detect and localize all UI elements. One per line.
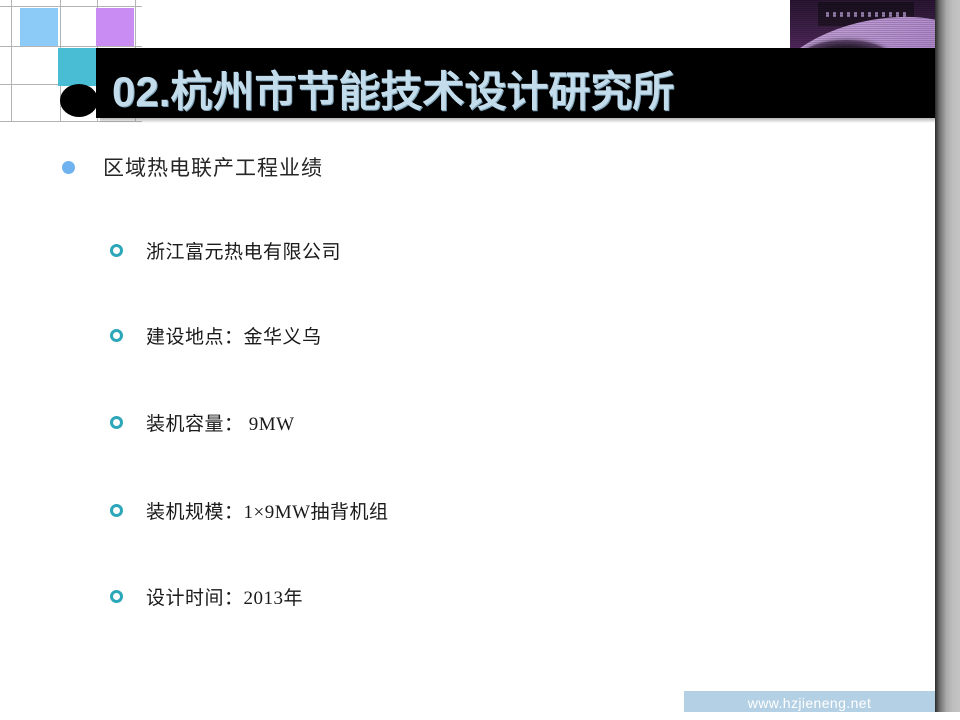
ring-bullet-icon [110,416,123,429]
ring-bullet-icon [110,590,123,603]
bullet-level2-4: 设计时间：2013年 [110,583,303,610]
footer-url: www.hzjieneng.net [684,695,935,711]
solid-circle-bullet-icon [62,161,75,174]
ring-bullet-icon [110,329,123,342]
slide-right-edge-shadow [935,0,960,720]
bullet-level2-4-label: 设计时间：2013年 [146,583,303,610]
bullet-level2-1: 建设地点：金华义乌 [110,322,322,349]
bullet-level2-3-label: 装机规模：1×9MW抽背机组 [146,497,389,524]
bullet-level2-3: 装机规模：1×9MW抽背机组 [110,497,389,524]
bullet-level2-0-label: 浙江富元热电有限公司 [146,237,341,264]
decor-square-purple [96,8,134,46]
bullet-level1-0: 区域热电联产工程业绩 [62,152,323,182]
slide-canvas: 02.杭州市节能技术设计研究所 区域热电联产工程业绩 浙江富元热电有限公司 建设… [0,0,960,720]
decor-square-teal [58,48,96,86]
bullet-level2-2-label: 装机容量： 9MW [146,409,295,436]
bullet-level1-0-label: 区域热电联产工程业绩 [103,152,323,182]
ring-bullet-icon [110,504,123,517]
slide-title: 02.杭州市节能技术设计研究所 [112,58,674,119]
bullet-level2-2: 装机容量： 9MW [110,409,295,436]
decor-square-blue [20,8,58,46]
ring-bullet-icon [110,244,123,257]
decor-ellipse-black [60,84,98,117]
slide-bottom-edge [0,712,960,720]
bullet-level2-0: 浙江富元热电有限公司 [110,237,341,264]
bullet-level2-1-label: 建设地点：金华义乌 [146,322,322,349]
